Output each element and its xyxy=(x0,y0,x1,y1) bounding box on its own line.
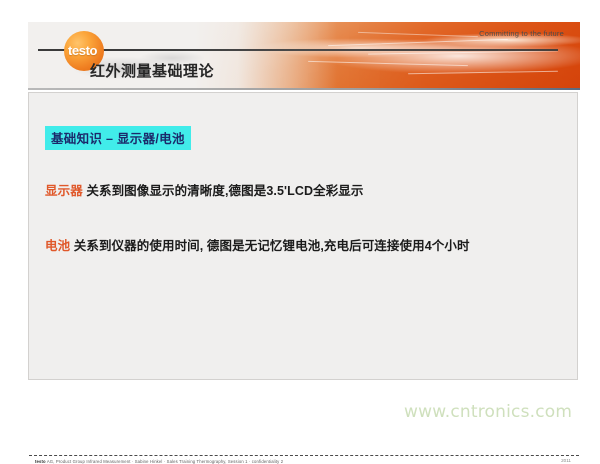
body-line-2: 电池 关系到仪器的使用时间, 德图是无记忆锂电池,充电后可连接使用4个小时 xyxy=(45,235,470,254)
body-line-2-keyword: 电池 xyxy=(45,239,70,253)
page-number: 2011 xyxy=(561,458,571,463)
slide: testo Committing to the future 红外测量基础理论 … xyxy=(28,22,580,402)
footer-text: AG, Product Group Infrared Measurement ·… xyxy=(46,459,283,464)
footer-brand: testo xyxy=(35,459,46,464)
footer-credit: testo AG, Product Group Infrared Measure… xyxy=(35,459,283,464)
site-watermark: www.cntronics.com xyxy=(404,402,572,422)
header-rule-right xyxy=(128,49,558,51)
body-line-1-text: 关系到图像显示的清晰度,德图是3.5'LCD全彩显示 xyxy=(83,184,364,198)
section-subtitle: 基础知识 – 显示器/电池 xyxy=(45,126,191,150)
footer-divider xyxy=(29,455,579,456)
slide-body: 基础知识 – 显示器/电池 显示器 关系到图像显示的清晰度,德图是3.5'LCD… xyxy=(28,92,578,380)
body-line-1-keyword: 显示器 xyxy=(45,184,83,198)
body-line-2-text: 关系到仪器的使用时间, 德图是无记忆锂电池,充电后可连接使用4个小时 xyxy=(70,239,469,253)
brand-tagline: Committing to the future xyxy=(479,29,564,38)
header-baseline-rule xyxy=(28,88,580,90)
page-title: 红外测量基础理论 xyxy=(90,60,214,81)
testo-logo-wordmark: testo xyxy=(68,43,97,58)
slide-header: testo Committing to the future 红外测量基础理论 xyxy=(28,22,580,90)
body-line-1: 显示器 关系到图像显示的清晰度,德图是3.5'LCD全彩显示 xyxy=(45,180,364,199)
